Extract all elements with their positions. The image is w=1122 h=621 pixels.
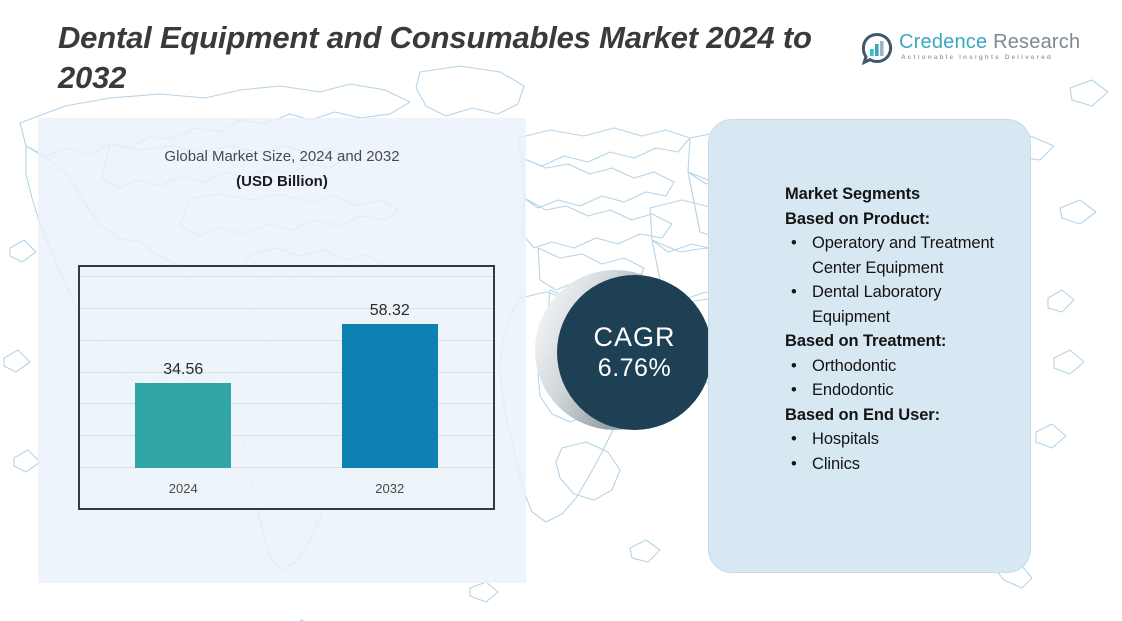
chart-title: Global Market Size, 2024 and 2032 (38, 148, 526, 165)
chart-value-label: 58.32 (330, 302, 450, 320)
bullet-icon: • (791, 452, 797, 477)
cagr-value: 6.76% (598, 353, 671, 384)
chart-bar (342, 324, 438, 468)
chart-subtitle: (USD Billion) (38, 173, 526, 190)
chart-value-label: 34.56 (123, 361, 243, 379)
chart-category-label: 2024 (123, 481, 243, 496)
segment-list-item: •Clinics (785, 452, 1015, 477)
chart-category-label: 2032 (330, 481, 450, 496)
segment-heading: Based on Treatment: (785, 329, 1015, 354)
bar-chart: 34.56202458.322032 (78, 265, 495, 510)
bullet-icon: • (791, 378, 797, 403)
chart-bar (135, 383, 231, 468)
chart-gridline (80, 276, 493, 277)
page-title: Dental Equipment and Consumables Market … (58, 18, 858, 98)
infographic-root: Dental Equipment and Consumables Market … (0, 0, 1122, 621)
segment-list-item: •Orthodontic (785, 354, 1015, 379)
logo-word-research: Research (987, 31, 1080, 53)
bullet-icon: • (791, 280, 797, 305)
segment-list-item: •Dental Laboratory Equipment (785, 280, 1015, 329)
segment-list-item: •Hospitals (785, 427, 1015, 452)
cagr-badge: CAGR 6.76% (535, 270, 715, 450)
logo-word-credence: Credence (899, 31, 987, 53)
bullet-icon: • (791, 231, 797, 256)
bullet-icon: • (791, 427, 797, 452)
brand-logo[interactable]: Credence Research Actionable Insights De… (861, 31, 1056, 73)
segment-list-item: •Endodontic (785, 378, 1015, 403)
bullet-icon: • (791, 354, 797, 379)
chart-plot-area: 34.56202458.322032 (80, 267, 493, 508)
logo-tagline: Actionable Insights Delivered (901, 54, 1053, 61)
bar-chart-bubble-icon (861, 33, 893, 65)
cagr-label: CAGR (593, 321, 675, 353)
logo-wordmark: Credence Research (899, 31, 1080, 54)
cagr-circle: CAGR 6.76% (557, 275, 712, 430)
market-segments-list: Market SegmentsBased on Product:•Operato… (785, 182, 1015, 476)
segment-heading: Based on Product: (785, 207, 1015, 232)
segment-list-item: •Operatory and Treatment Center Equipmen… (785, 231, 1015, 280)
segment-heading: Market Segments (785, 182, 1015, 207)
segment-heading: Based on End User: (785, 403, 1015, 428)
